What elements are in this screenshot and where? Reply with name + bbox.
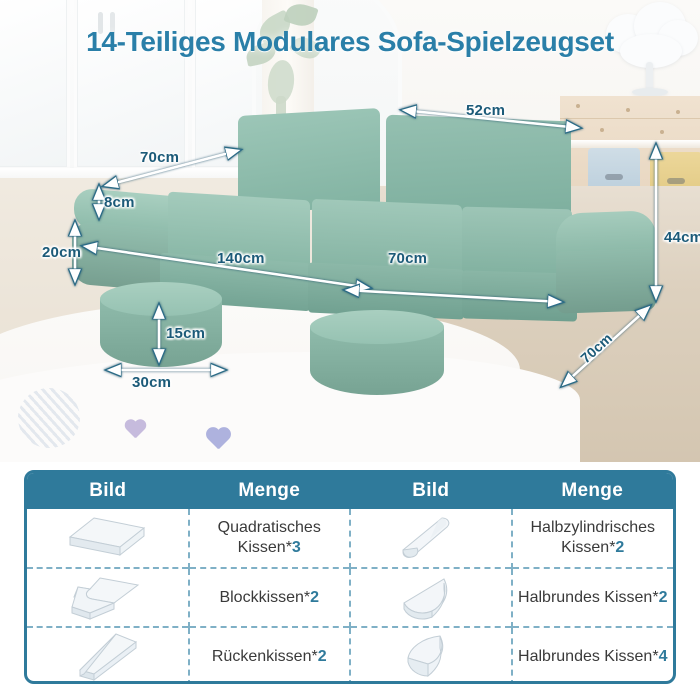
part-qty: 2 [615,539,624,556]
cell-label-wedge-back-cushion: Rückenkissen*2 [189,627,351,684]
dim-seat-height: 20cm [42,244,81,261]
quarter-round-cushion-icon [388,630,474,684]
square-cushion-icon [64,514,150,562]
dim-backrest-thickness: 8cm [104,194,135,211]
part-qty: 2 [310,589,319,606]
cell-shape-block-cushion [27,568,189,627]
page-title: 14-Teiliges Modulares Sofa-Spielzeugset [0,26,700,58]
dim-backrest-right-width: 52cm [466,102,505,119]
part-qty: 2 [659,589,668,606]
cell-shape-wedge-back-cushion [27,627,189,684]
part-qty: 3 [292,539,301,556]
dimension-overlay [0,0,700,462]
parts-table: Bild Menge Bild Menge [24,470,676,684]
cell-shape-half-round-flat [350,568,512,627]
part-qty: 2 [318,648,327,665]
half-round-flat-cushion-icon [388,573,474,623]
table-row: Blockkissen*2 [27,568,673,627]
dim-ottoman-diameter: 30cm [132,374,171,391]
dim-total-height: 44cm [664,229,700,246]
part-name: Blockkissen [219,589,303,606]
part-name: Quadratisches Kissen [218,519,321,556]
dim-backrest-width: 70cm [140,149,179,166]
cell-shape-half-cylinder [350,509,512,568]
cell-label-half-cylinder: Halbzylindrisches Kissen*2 [512,509,674,568]
part-name: Rückenkissen [212,648,312,665]
part-name: Halbzylindrisches Kissen [531,519,656,556]
block-cushion-icon [64,573,150,623]
header-menge-1: Menge [189,473,351,509]
product-infographic: 70cm 52cm 8cm 20cm 140cm 70cm 44cm 70cm … [0,0,700,700]
half-cylinder-cushion-icon [388,512,474,564]
table-header-row: Bild Menge Bild Menge [27,473,673,509]
header-bild-1: Bild [27,473,189,509]
wedge-back-cushion-icon [64,630,150,684]
part-qty: 4 [659,648,668,665]
part-name: Halbrundes Kissen [518,589,652,606]
header-bild-2: Bild [350,473,512,509]
cell-shape-quarter-round [350,627,512,684]
room-scene-photo: 70cm 52cm 8cm 20cm 140cm 70cm 44cm 70cm … [0,0,700,462]
dim-seat-length-left: 140cm [217,250,265,267]
cell-label-half-round-flat: Halbrundes Kissen*2 [512,568,674,627]
dim-ottoman-height: 15cm [166,325,205,342]
cell-label-square-cushion: Quadratisches Kissen*3 [189,509,351,568]
cell-label-block-cushion: Blockkissen*2 [189,568,351,627]
part-name: Halbrundes Kissen [518,648,652,665]
table-row: Rückenkissen*2 [27,627,673,684]
header-menge-2: Menge [512,473,674,509]
dim-seat-length-right: 70cm [388,250,427,267]
table-row: Quadratisches Kissen*3 [27,509,673,568]
cell-shape-square-cushion [27,509,189,568]
cell-label-quarter-round: Halbrundes Kissen*4 [512,627,674,684]
